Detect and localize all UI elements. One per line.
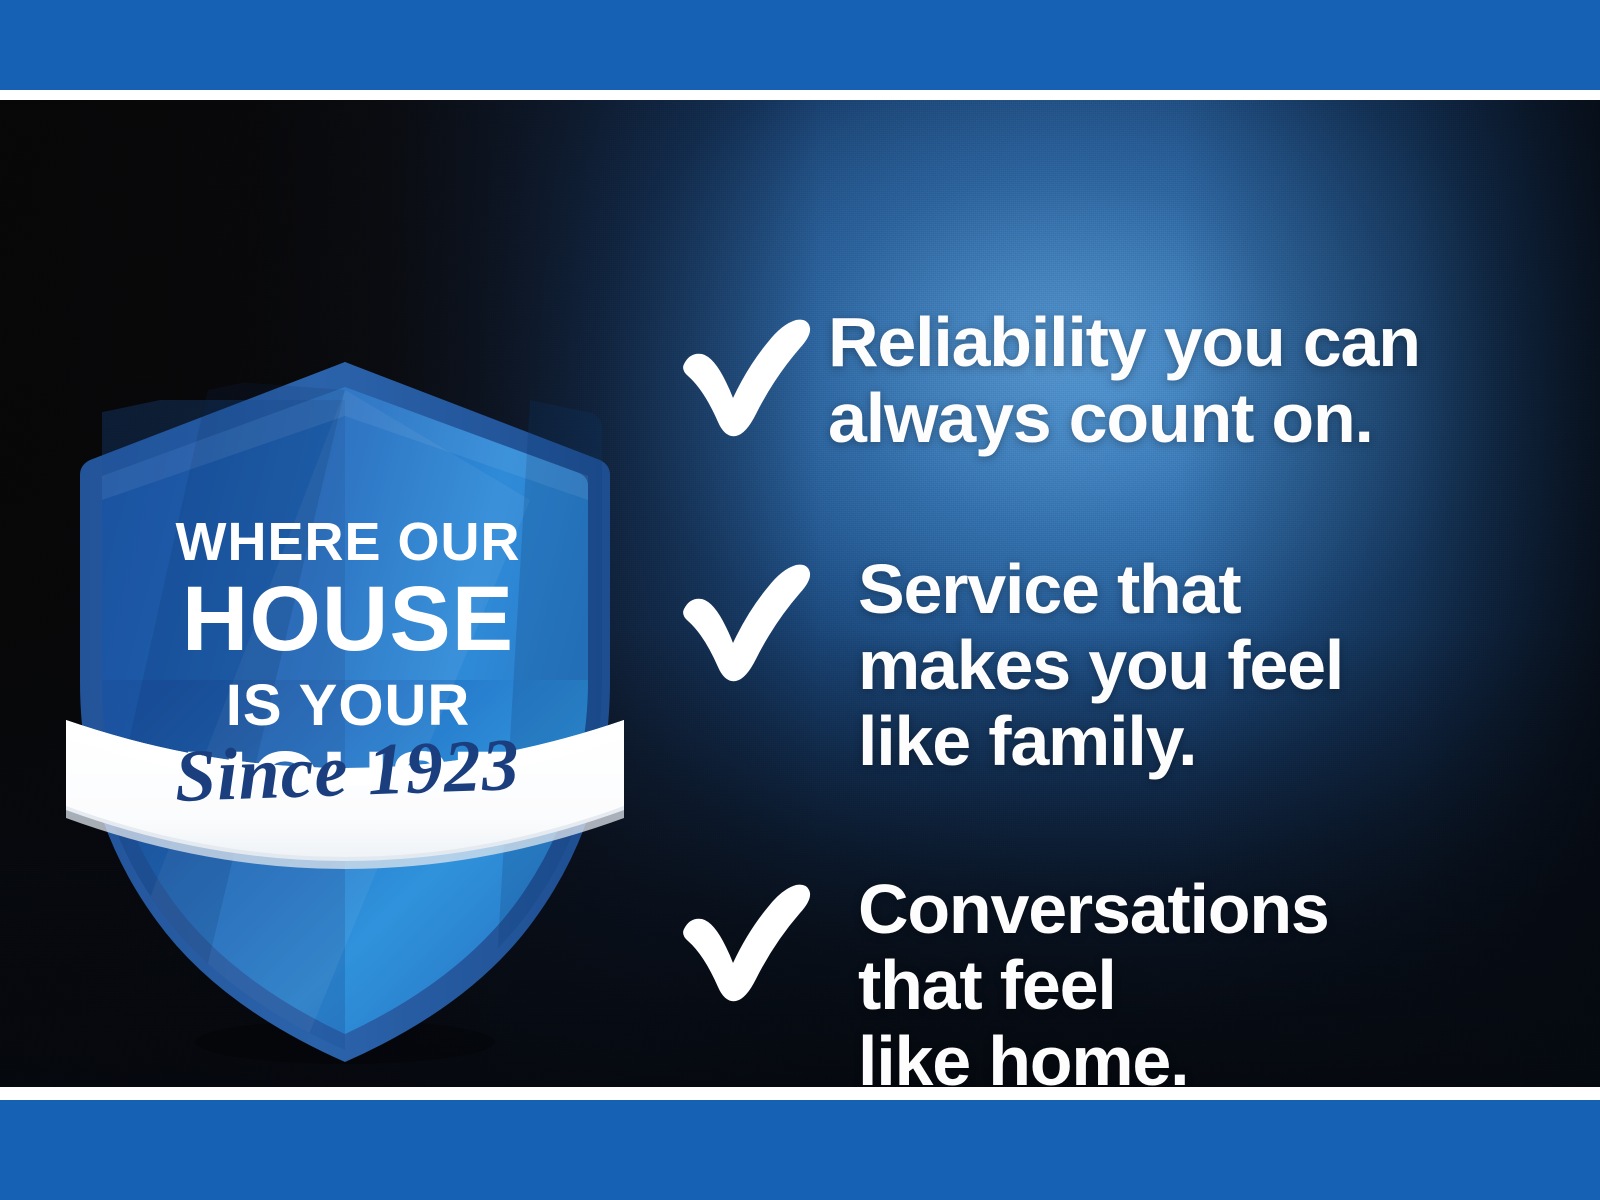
checkmark-icon [670, 310, 820, 440]
benefit-text: Service that makes you feel like family. [858, 551, 1578, 779]
main-canvas: WHERE OUR HOUSE IS YOUR HOUSE Since 1923 [0, 100, 1600, 1087]
logo-line-1: WHERE OUR [176, 512, 521, 572]
benefit-text: Conversations that feel like home. [858, 871, 1578, 1087]
checkmark-icon [670, 875, 820, 1005]
logo-line-2: HOUSE [182, 568, 514, 670]
bottom-divider [0, 1087, 1600, 1100]
top-brand-bar [0, 0, 1600, 90]
benefit-text: Reliability you can always count on. [828, 304, 1568, 456]
benefits-list: Reliability you can always count on. Ser… [660, 200, 1560, 1087]
bottom-brand-bar [0, 1100, 1600, 1200]
checkmark-icon [670, 555, 820, 685]
top-divider [0, 90, 1600, 100]
brand-logo: WHERE OUR HOUSE IS YOUR HOUSE Since 1923 [60, 250, 630, 1060]
banner-text: Since 1923 [173, 724, 521, 818]
promo-graphic: WHERE OUR HOUSE IS YOUR HOUSE Since 1923 [0, 0, 1600, 1200]
